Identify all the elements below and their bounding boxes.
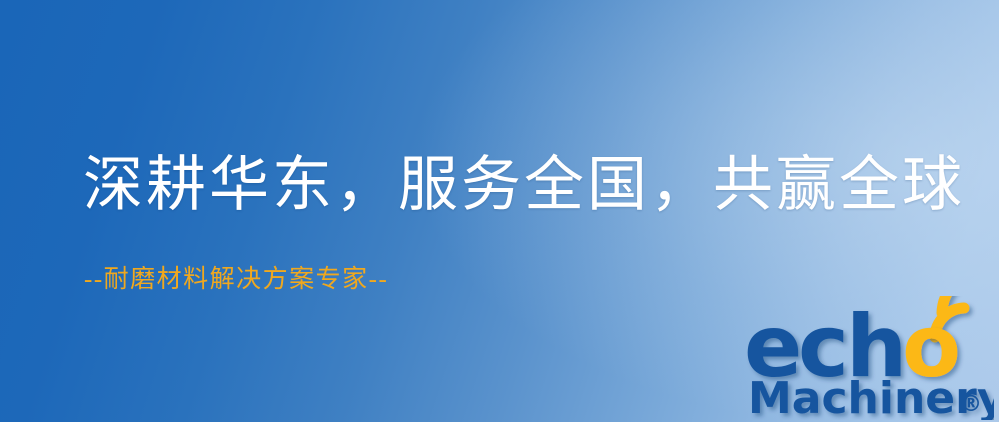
company-logo[interactable]: e c h o Machinery ® <box>742 296 994 420</box>
logo-wordmark-machinery: Machinery <box>748 373 994 420</box>
promo-banner: 深耕华东，服务全国，共赢全球 --耐磨材料解决方案专家-- e c h <box>0 0 999 422</box>
banner-subtitle: --耐磨材料解决方案专家-- <box>84 265 388 295</box>
banner-headline: 深耕华东，服务全国，共赢全球 <box>83 152 965 219</box>
registered-trademark-icon: ® <box>960 392 982 417</box>
